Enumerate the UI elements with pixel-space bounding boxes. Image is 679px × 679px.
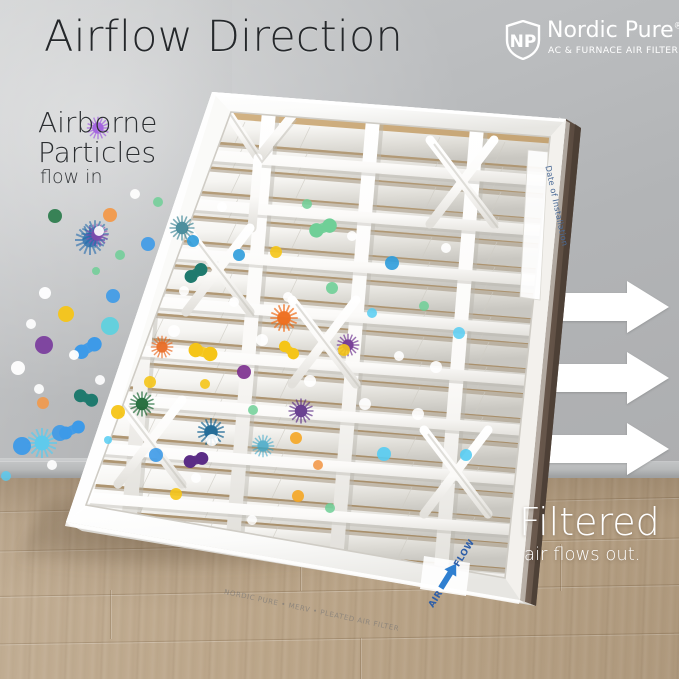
airborne-particles-layer: [0, 0, 679, 679]
particle-dot: [412, 408, 424, 420]
particle-dot: [302, 199, 312, 209]
particle-dot: [187, 235, 199, 247]
particle-rod: [307, 216, 339, 239]
particle-rod: [187, 341, 219, 363]
particle-dot: [247, 515, 257, 525]
particle-dot: [104, 436, 112, 444]
particle-dot: [179, 286, 189, 296]
brand-name: Nordic Pure®: [547, 18, 679, 43]
particle-dot: [229, 297, 239, 307]
brand-logo: NP Nordic Pure® AC & FURNACE AIR FILTERS: [505, 18, 665, 64]
particle-dot: [26, 319, 36, 329]
particle-dot: [153, 197, 163, 207]
page-title: Airflow Direction: [44, 12, 403, 62]
particle-dot: [69, 350, 79, 360]
particle-dot: [13, 437, 31, 455]
particle-dot: [34, 384, 44, 394]
particle-dot: [168, 325, 180, 337]
particle-dot: [144, 376, 156, 388]
particle-dot: [270, 246, 282, 258]
brand-name-text: Nordic Pure: [547, 18, 674, 43]
particle-rod: [277, 338, 302, 361]
registered-mark: ®: [674, 22, 679, 32]
particle-microbe: [289, 399, 314, 424]
particle-dot: [304, 375, 316, 387]
particle-microbe: [252, 435, 274, 458]
particle-dot: [37, 397, 49, 409]
particle-dot: [237, 365, 251, 379]
brand-tagline: AC & FURNACE AIR FILTERS: [548, 45, 679, 56]
particle-dot: [292, 490, 304, 502]
left-caption-line2: Particles: [38, 138, 157, 168]
particle-dot: [35, 336, 53, 354]
particle-dot: [377, 447, 391, 461]
particle-dot: [1, 471, 11, 481]
particle-dot: [106, 289, 120, 303]
product-infographic: Date of Installation AIR FLOW NORDIC PUR…: [0, 0, 679, 679]
particle-dot: [338, 344, 350, 356]
particle-dot: [367, 308, 377, 318]
particle-dot: [95, 375, 105, 385]
particle-dot: [52, 425, 68, 441]
microbe-body: [136, 398, 148, 410]
particle-dot: [453, 327, 465, 339]
particle-dot: [11, 361, 25, 375]
particle-dot: [39, 287, 51, 299]
particle-dot: [191, 473, 201, 483]
microbe-body: [176, 222, 188, 234]
particle-dot: [430, 361, 442, 373]
left-caption-line1: Airborne: [38, 106, 157, 139]
particle-dot: [103, 208, 117, 222]
particle-dot: [111, 405, 125, 419]
particle-dot: [101, 317, 119, 335]
particle-dot: [325, 503, 335, 513]
particle-dot: [385, 256, 399, 270]
particle-dot: [200, 379, 210, 389]
particle-dot: [130, 189, 140, 199]
particle-dot: [149, 448, 163, 462]
particle-microbe: [130, 392, 155, 417]
particle-dot: [94, 226, 104, 236]
particle-rod: [182, 261, 210, 286]
particle-dot: [47, 460, 57, 470]
particle-dot: [441, 243, 451, 253]
particle-dot: [326, 282, 338, 294]
logo-monogram: NP: [510, 32, 537, 52]
particle-dot: [206, 434, 218, 446]
particle-dot: [256, 334, 268, 346]
particle-dot: [217, 202, 227, 212]
microbe-body: [156, 341, 167, 352]
microbe-body: [35, 436, 50, 451]
left-caption: Airborne Particles: [38, 108, 157, 168]
particle-dot: [115, 250, 125, 260]
particle-rod: [72, 387, 100, 408]
particle-dot: [394, 351, 404, 361]
particle-microbe: [151, 336, 174, 359]
microbe-body: [295, 405, 307, 417]
particle-dot: [283, 292, 293, 302]
particle-rod: [182, 450, 210, 469]
particle-dot: [460, 449, 472, 461]
microbe-body: [257, 440, 268, 451]
particle-dot: [170, 488, 182, 500]
right-caption-line1: Filtered: [519, 500, 660, 544]
particle-dot: [248, 405, 258, 415]
particle-microbe: [270, 304, 298, 332]
particle-group-dots: [1, 189, 472, 525]
particle-dot: [58, 306, 74, 322]
particle-dot: [141, 237, 155, 251]
particle-dot: [359, 398, 371, 410]
particle-dot: [48, 209, 62, 223]
particle-dot: [290, 432, 302, 444]
particle-dot: [313, 460, 323, 470]
particle-dot: [92, 267, 100, 275]
particle-dot: [233, 249, 245, 261]
left-caption-line3: flow in: [40, 166, 103, 188]
shield-icon: NP: [505, 20, 541, 60]
particle-dot: [419, 301, 429, 311]
microbe-body: [277, 311, 291, 325]
particle-dot: [347, 231, 357, 241]
right-caption-line2: air flows out.: [524, 544, 641, 565]
